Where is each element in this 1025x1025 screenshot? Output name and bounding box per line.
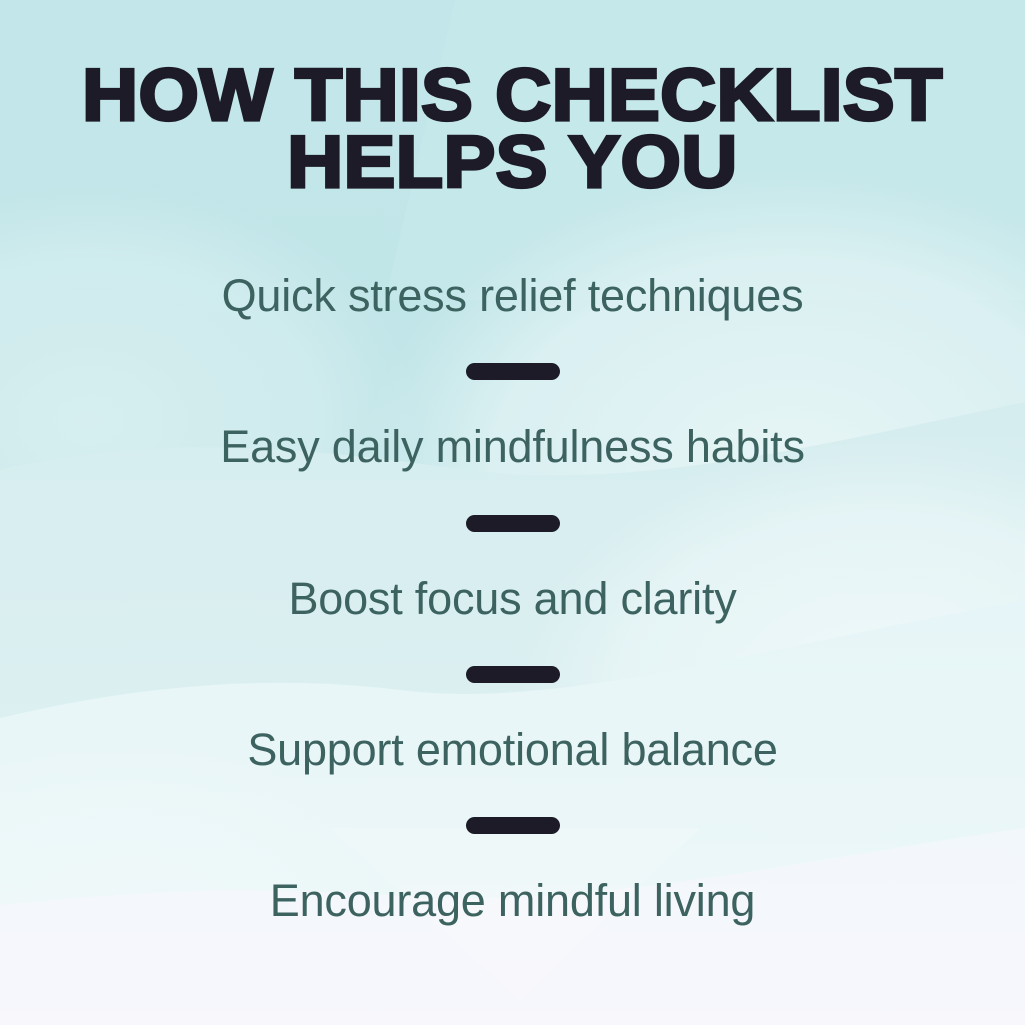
title-line-1: HOW THIS CHECKLIST bbox=[0, 62, 1025, 129]
divider-dash-icon bbox=[466, 666, 560, 683]
title-line-2: HELPS YOU bbox=[0, 129, 1025, 196]
list-item: Boost focus and clarity bbox=[288, 575, 736, 622]
poster-content: HOW THIS CHECKLIST HELPS YOU Quick stres… bbox=[0, 0, 1025, 1025]
list-item: Encourage mindful living bbox=[270, 877, 755, 924]
poster-canvas: HOW THIS CHECKLIST HELPS YOU Quick stres… bbox=[0, 0, 1025, 1025]
divider-dash-icon bbox=[466, 363, 560, 380]
list-item: Easy daily mindfulness habits bbox=[220, 423, 805, 470]
list-item: Quick stress relief techniques bbox=[222, 272, 804, 319]
list-item: Support emotional balance bbox=[247, 726, 777, 773]
benefits-list: Quick stress relief techniques Easy dail… bbox=[0, 272, 1025, 924]
page-title: HOW THIS CHECKLIST HELPS YOU bbox=[0, 62, 1025, 196]
divider-dash-icon bbox=[466, 817, 560, 834]
divider-dash-icon bbox=[466, 515, 560, 532]
